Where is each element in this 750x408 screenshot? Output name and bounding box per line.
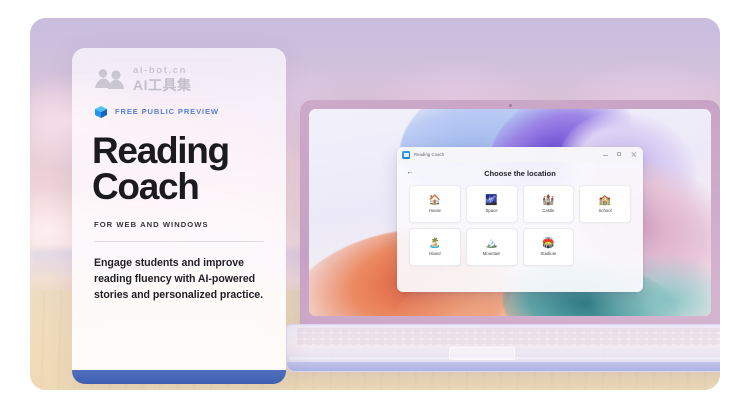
- blue-cube-icon: [94, 105, 108, 119]
- window-controls: [603, 152, 640, 157]
- house-icon: 🏠: [429, 195, 441, 206]
- location-label: Castle: [542, 208, 554, 213]
- glass-panel-inner: ai-bot.cn AI工具集 FREE PUBLIC PREVIEW: [72, 48, 286, 384]
- minimize-icon[interactable]: [603, 152, 608, 157]
- page-title: Reading Coach: [92, 133, 264, 206]
- location-label: Space: [486, 208, 498, 213]
- laptop-lid: Reading Coach ← Choose the location: [300, 100, 720, 328]
- preview-badge: FREE PUBLIC PREVIEW: [94, 105, 264, 119]
- close-icon[interactable]: [631, 152, 636, 157]
- laptop-device: Reading Coach ← Choose the location: [300, 100, 720, 328]
- location-card-island[interactable]: 🏝️ Island: [409, 228, 461, 266]
- location-card-mountain[interactable]: 🏔️ Mountain: [466, 228, 518, 266]
- preview-badge-label: FREE PUBLIC PREVIEW: [115, 107, 219, 116]
- space-icon: 🌌: [485, 195, 497, 206]
- app-heading: Choose the location: [484, 169, 556, 178]
- people-group-icon: [94, 68, 126, 90]
- page-title-line1: Reading: [92, 130, 229, 171]
- stadium-icon: 🏟️: [542, 238, 554, 249]
- mountain-icon: 🏔️: [485, 238, 497, 249]
- location-label: House: [429, 208, 441, 213]
- laptop-screen: Reading Coach ← Choose the location: [309, 109, 711, 316]
- maximize-icon[interactable]: [617, 152, 622, 157]
- location-card-school[interactable]: 🏫 School: [579, 185, 631, 223]
- location-label: Stadium: [541, 251, 557, 256]
- location-label: Mountain: [483, 251, 501, 256]
- laptop-keyboard-base: [286, 324, 720, 372]
- page-subtitle: FOR WEB AND WINDOWS: [94, 220, 264, 229]
- page-root: Reading Coach ← Choose the location: [0, 0, 750, 408]
- reading-coach-app-window: Reading Coach ← Choose the location: [397, 147, 643, 292]
- app-header: ← Choose the location: [397, 162, 643, 184]
- laptop-webcam-icon: [509, 104, 512, 107]
- location-card-house[interactable]: 🏠 House: [409, 185, 461, 223]
- school-icon: 🏫: [599, 195, 611, 206]
- location-label: School: [599, 208, 612, 213]
- base-edge: [287, 362, 720, 371]
- location-card-castle[interactable]: 🏰 Castle: [523, 185, 575, 223]
- reading-coach-app-icon: [402, 151, 410, 159]
- watermark-domain: ai-bot.cn: [133, 66, 192, 76]
- divider: [94, 241, 264, 242]
- location-card-space[interactable]: 🌌 Space: [466, 185, 518, 223]
- watermark-text: ai-bot.cn AI工具集: [133, 66, 192, 92]
- location-card-grid: 🏠 House 🌌 Space 🏰 Castle: [397, 184, 643, 266]
- island-icon: 🏝️: [429, 238, 441, 249]
- hero-image-card: Reading Coach ← Choose the location: [30, 18, 720, 390]
- keyboard-keys: [297, 328, 720, 345]
- page-title-line2: Coach: [92, 169, 264, 205]
- castle-icon: 🏰: [542, 195, 554, 206]
- back-arrow-icon[interactable]: ←: [406, 169, 414, 177]
- watermark: ai-bot.cn AI工具集: [94, 66, 264, 92]
- watermark-name: AI工具集: [133, 78, 192, 92]
- location-card-stadium[interactable]: 🏟️ Stadium: [523, 228, 575, 266]
- glass-content-panel: ai-bot.cn AI工具集 FREE PUBLIC PREVIEW: [72, 48, 286, 384]
- glass-panel-bottom-bar: [72, 370, 286, 384]
- app-title-text: Reading Coach: [414, 152, 444, 157]
- app-titlebar: Reading Coach: [397, 147, 643, 162]
- location-label: Island: [429, 251, 440, 256]
- page-description: Engage students and improve reading flue…: [94, 255, 264, 303]
